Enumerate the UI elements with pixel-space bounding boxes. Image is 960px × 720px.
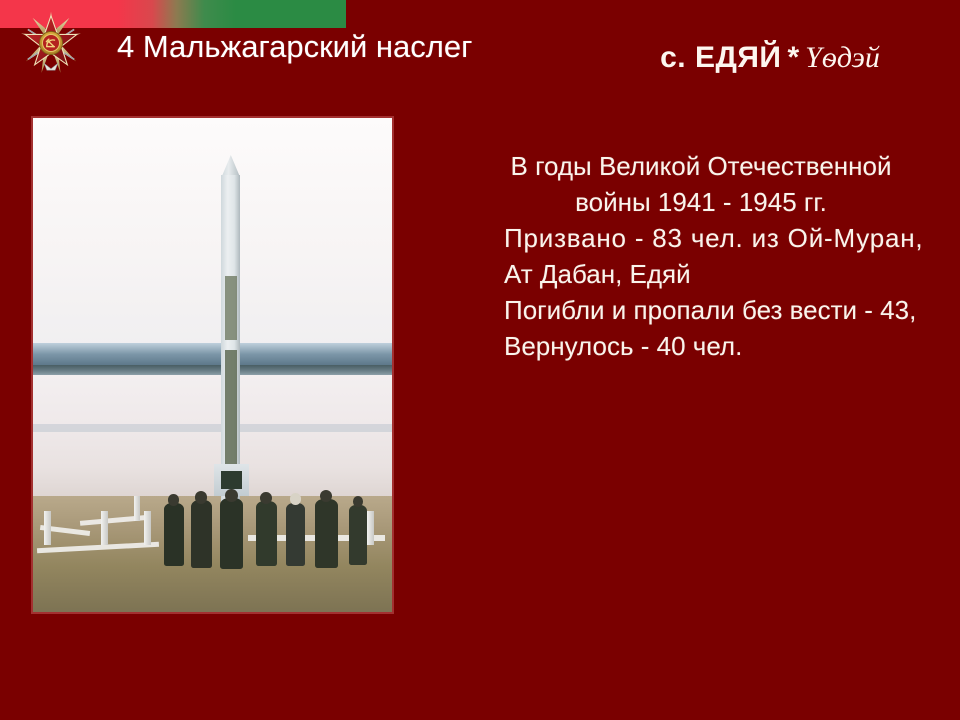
- photo-treeline: [33, 343, 392, 375]
- photo-person-head: [353, 496, 363, 507]
- photo-person: [191, 500, 213, 567]
- photo-fence-post: [144, 511, 151, 546]
- memorial-photograph-frame: [31, 116, 394, 614]
- village-name-russian: с. ЕДЯЙ: [660, 41, 781, 74]
- text-line: В годы Великой Отечественной: [460, 148, 942, 184]
- text-line: Погибли и пропали без вести - 43,: [460, 292, 942, 328]
- page-title-naslеg: 4 Мальжагарский наслег: [117, 28, 472, 66]
- photo-fence-post: [134, 496, 141, 521]
- photo-person-head: [225, 489, 238, 502]
- text-line: Ат Дабан, Едяй: [460, 256, 942, 292]
- text-line: Вернулось - 40 чел.: [460, 328, 942, 364]
- photo-person: [256, 501, 278, 565]
- photo-obelisk-inset-upper: [225, 276, 237, 340]
- photo-ground: [33, 496, 392, 612]
- photo-fence-post: [44, 511, 51, 546]
- memorial-statistics-text: В годы Великой Отечественной войны 1941 …: [460, 148, 942, 364]
- text-line: войны 1941 - 1945 гг.: [460, 184, 942, 220]
- page-title-village: с. ЕДЯЙ*Үѳдэй: [580, 41, 960, 75]
- photo-person: [349, 505, 367, 564]
- photo-fence-post: [367, 511, 374, 546]
- photo-person: [164, 503, 184, 565]
- photo-obelisk-inset-lower: [225, 350, 237, 469]
- village-name-yakut: Үѳдэй: [805, 41, 880, 74]
- photo-person: [286, 503, 305, 565]
- photo-person: [220, 498, 244, 568]
- photo-fence-post: [101, 511, 108, 546]
- photo-person: [315, 499, 338, 567]
- slide-root: 4 Мальжагарский наслег с. ЕДЯЙ*Үѳдэй: [0, 0, 960, 720]
- star-separator: *: [781, 41, 805, 74]
- photo-snowfield: [33, 375, 392, 499]
- photo-person-head: [260, 492, 272, 504]
- photo-snow-streak: [33, 424, 392, 432]
- order-of-the-patriotic-war-medal-icon: [17, 9, 85, 77]
- memorial-obelisk-photograph: [33, 118, 392, 612]
- photo-memorial-plaque: [221, 471, 241, 489]
- text-line: Призвано - 83 чел. из Ой-Муран,: [460, 220, 942, 256]
- photo-person-head: [290, 493, 301, 504]
- photo-sky: [33, 118, 392, 365]
